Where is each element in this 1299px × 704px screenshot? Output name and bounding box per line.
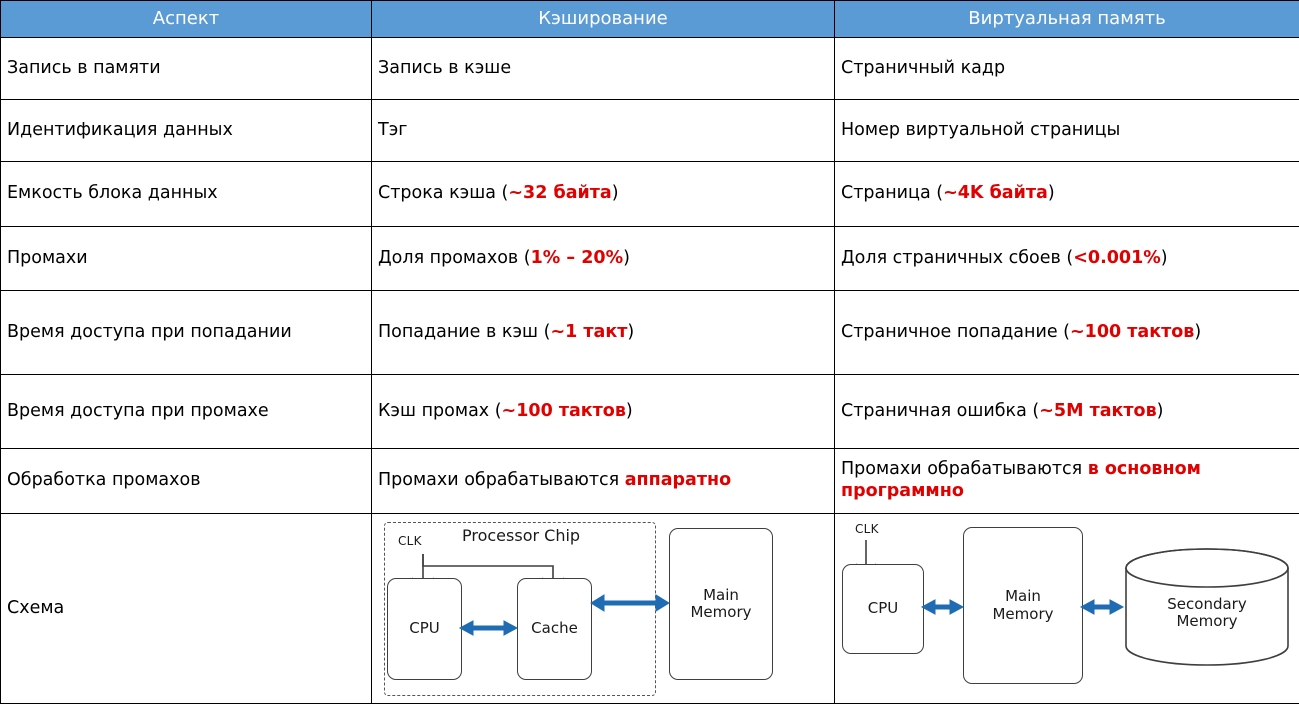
cell-tail: ) [1157,401,1164,421]
cell-text: Доля страничных сбоев ( [841,248,1073,268]
cell-highlight: ~100 тактов [1070,322,1194,342]
cell-text: Страничное попадание ( [841,322,1070,342]
cell-highlight: ~1 такт [550,322,627,342]
cell-aspect: Обработка промахов [1,449,372,514]
cell-aspect: Емкость блока данных [1,162,372,227]
cell-text: Страничный кадр [841,58,1005,78]
cell-aspect: Время доступа при промахе [1,375,372,449]
cell-virtual-memory: Страничная ошибка (~5М тактов) [835,375,1299,449]
cell-caching: Тэг [372,100,835,162]
cell-highlight: ~4K байта [943,183,1048,203]
cell-text: Попадание в кэш ( [378,322,550,342]
cell-virtual-memory: Доля страничных сбоев (<0.001%) [835,227,1299,291]
cell-text: Номер виртуальной страницы [841,120,1120,140]
cell-tail: ) [626,401,633,421]
cell-text: Страничная ошибка ( [841,401,1039,421]
cell-aspect: Промахи [1,227,372,291]
table-row-diagram: Схема Processor Chip CLK [1,514,1299,704]
column-header-aspect: Аспект [1,1,372,38]
cell-caching: Строка кэша (~32 байта) [372,162,835,227]
cell-caching: Запись в кэше [372,38,835,100]
cell-highlight: 1% – 20% [531,248,624,268]
bus-arrows [835,514,1299,703]
cache-architecture-diagram: Processor Chip CLK CPU [372,514,834,703]
table-row: Запись в памяти Запись в кэше Страничный… [1,38,1299,100]
cell-virtual-memory: Промахи обрабатываются в основном програ… [835,449,1299,514]
table-row: Обработка промахов Промахи обрабатываютс… [1,449,1299,514]
cell-cache-diagram: Processor Chip CLK CPU [372,514,835,704]
cell-text: Промахи обрабатываются [841,459,1088,479]
table-row: Емкость блока данных Строка кэша (~32 ба… [1,162,1299,227]
cell-caching: Доля промахов (1% – 20%) [372,227,835,291]
table-row: Идентификация данных Тэг Номер виртуальн… [1,100,1299,162]
cell-virtual-memory: Страничный кадр [835,38,1299,100]
cell-virtual-memory: Страница (~4K байта) [835,162,1299,227]
table-header-row: Аспект Кэширование Виртуальная память [1,1,1299,38]
cell-highlight: <0.001% [1073,248,1161,268]
cell-text: Тэг [378,120,408,140]
cell-tail: ) [1161,248,1168,268]
table-row: Время доступа при промахе Кэш промах (~1… [1,375,1299,449]
cell-tail: ) [612,183,619,203]
cell-aspect: Идентификация данных [1,100,372,162]
cell-text: Кэш промах ( [378,401,502,421]
column-header-virtual-memory: Виртуальная память [835,1,1299,38]
cell-text: Запись в кэше [378,58,511,78]
cell-text: Страница ( [841,183,943,203]
cell-aspect: Запись в памяти [1,38,372,100]
cell-tail: ) [1194,322,1201,342]
cell-caching: Промахи обрабатываются аппаратно [372,449,835,514]
cell-aspect: Схема [1,514,372,704]
cell-highlight: ~32 байта [508,183,611,203]
cell-virtual-memory: Страничное попадание (~100 тактов) [835,291,1299,375]
cell-text: Строка кэша ( [378,183,508,203]
cell-highlight: ~100 тактов [502,401,626,421]
cell-text: Доля промахов ( [378,248,531,268]
cell-caching: Кэш промах (~100 тактов) [372,375,835,449]
cell-tail: ) [623,248,630,268]
virtual-memory-architecture-diagram: CLK CPU Main Memory [835,514,1299,703]
cell-virtual-memory: Номер виртуальной страницы [835,100,1299,162]
cell-highlight: аппаратно [625,470,731,490]
cell-vm-diagram: CLK CPU Main Memory [835,514,1299,704]
cell-text: Промахи обрабатываются [378,470,625,490]
bus-arrows [372,514,835,703]
column-header-caching: Кэширование [372,1,835,38]
cell-highlight: ~5М тактов [1039,401,1156,421]
table-row: Время доступа при попадании Попадание в … [1,291,1299,375]
cell-caching: Попадание в кэш (~1 такт) [372,291,835,375]
table-row: Промахи Доля промахов (1% – 20%) Доля ст… [1,227,1299,291]
cell-tail: ) [1048,183,1055,203]
cell-aspect: Время доступа при попадании [1,291,372,375]
cell-tail: ) [627,322,634,342]
comparison-table: Аспект Кэширование Виртуальная память За… [0,0,1299,704]
